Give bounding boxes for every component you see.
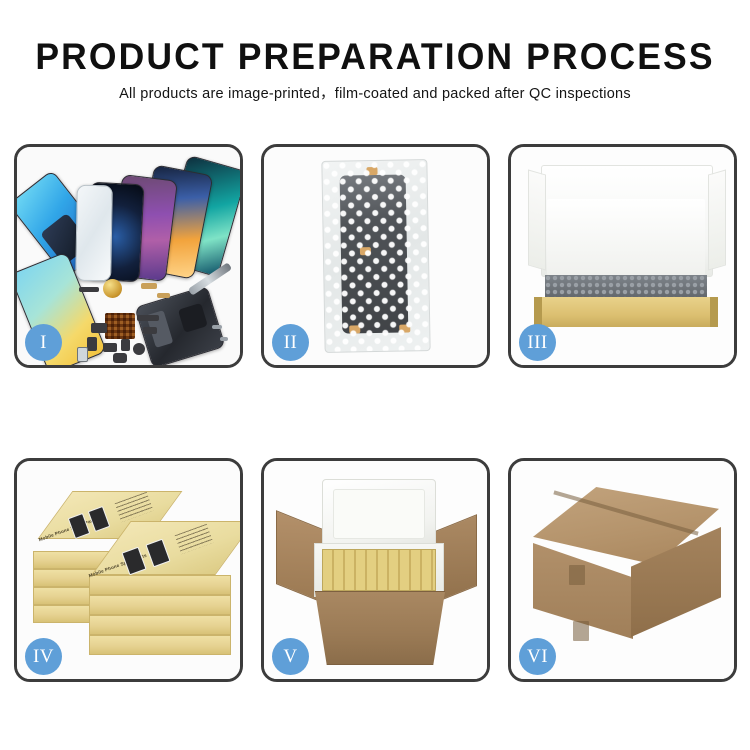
- spare-part: [133, 343, 145, 355]
- process-step-grid: I II III: [14, 144, 736, 682]
- yellow-boxes-inside: [322, 549, 436, 591]
- header: PRODUCT PREPARATION PROCESS All products…: [0, 0, 750, 102]
- step-badge-3: III: [519, 324, 556, 361]
- retail-box: [89, 615, 231, 635]
- camera-ring-part: [103, 279, 122, 298]
- step-panel-1: I: [14, 144, 243, 368]
- spare-part: [79, 287, 99, 292]
- step-panel-3: III: [508, 144, 737, 368]
- step-badge-2: II: [272, 324, 309, 361]
- step-panel-2: II: [261, 144, 490, 368]
- step-panel-4: Mobile Phone Spare Parts Mobile Phone Sp…: [14, 458, 243, 682]
- spare-part: [212, 325, 222, 329]
- spare-part: [143, 327, 157, 334]
- carton-front-panel: [306, 591, 454, 665]
- carton-tab: [573, 621, 589, 641]
- spare-part: [121, 339, 130, 351]
- bubble-wrap-bag: [321, 159, 430, 353]
- spare-part: [137, 315, 159, 321]
- spare-part: [157, 293, 170, 298]
- box-stack: Mobile Phone Spare Parts Mobile Phone Sp…: [25, 477, 239, 667]
- bubble-texture: [322, 160, 429, 352]
- retail-box: [89, 595, 231, 615]
- bubble-wrapped-contents: [545, 275, 707, 299]
- carton-tab: [569, 565, 585, 585]
- foam-sheet: [547, 199, 705, 275]
- spare-part: [220, 337, 228, 341]
- screen-protector-glass: [75, 185, 113, 282]
- page-title: PRODUCT PREPARATION PROCESS: [15, 38, 735, 75]
- spare-part: [77, 347, 88, 362]
- retail-box: [89, 575, 231, 595]
- step-panel-6: VI: [508, 458, 737, 682]
- step-badge-5: V: [272, 638, 309, 675]
- spare-part: [91, 323, 107, 333]
- yellow-box-base: [537, 297, 715, 327]
- page-subtitle: All products are image-printed，film-coat…: [0, 87, 750, 102]
- spare-part: [87, 337, 97, 351]
- retail-box: [89, 635, 231, 655]
- foam-lid: [322, 479, 436, 549]
- step-badge-4: IV: [25, 638, 62, 675]
- logic-board-part: [105, 313, 135, 339]
- spare-part: [113, 353, 127, 363]
- spare-part: [103, 343, 117, 352]
- step-panel-5: V: [261, 458, 490, 682]
- spare-part: [141, 283, 157, 289]
- product-preparation-infographic: PRODUCT PREPARATION PROCESS All products…: [0, 0, 750, 750]
- step-badge-6: VI: [519, 638, 556, 675]
- step-badge-1: I: [25, 324, 62, 361]
